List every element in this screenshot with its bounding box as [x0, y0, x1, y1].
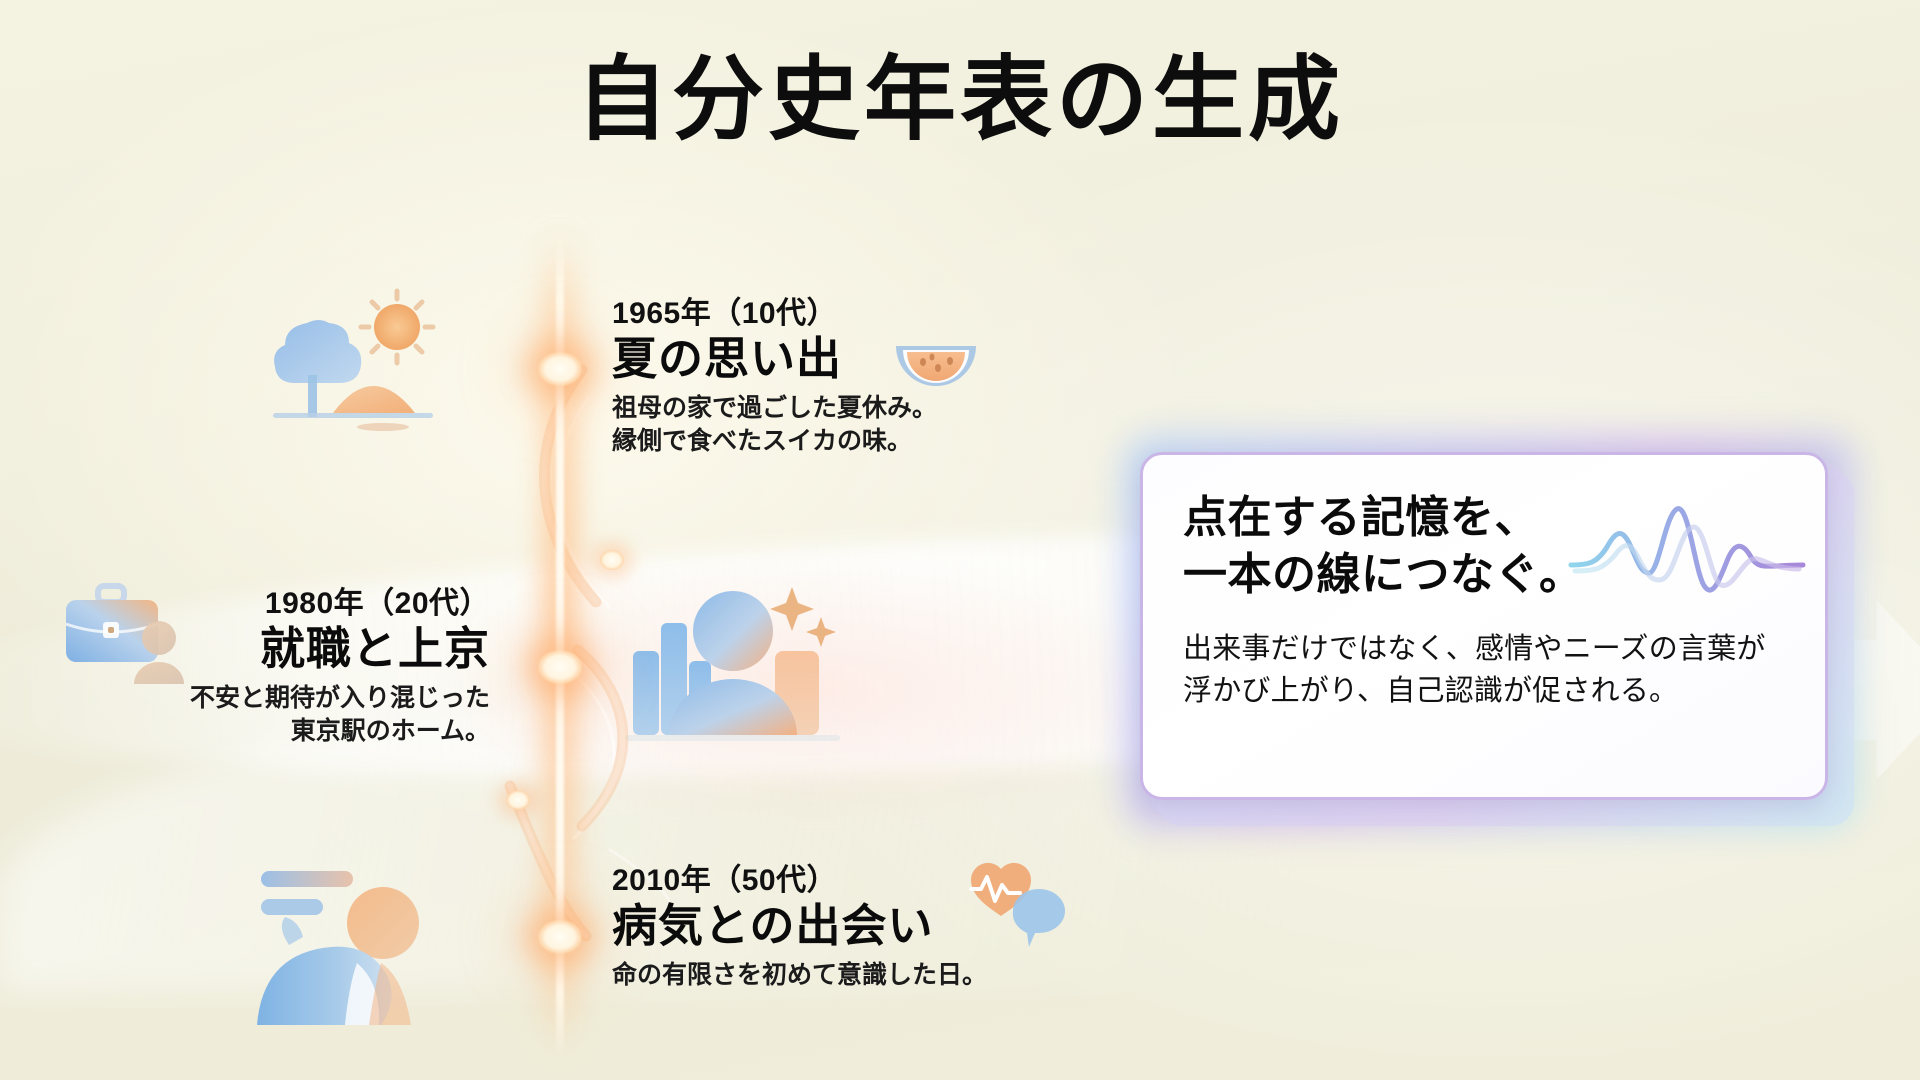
timeline-node-1980[interactable] [538, 650, 582, 684]
entry-description-2010: 命の有限さを初めて意識した日。 [612, 959, 987, 992]
summer-landscape-illustration [255, 285, 460, 445]
timeline-node-minor-right [600, 550, 624, 570]
timeline-entry-2010[interactable]: 2010年（50代） 病気との出会い 命の有限さを初めて意識した日。 [612, 855, 987, 992]
timeline-node-1965[interactable] [538, 352, 582, 386]
speech-bubble-icon [1013, 889, 1065, 947]
briefcase-person-illustration [60, 580, 195, 695]
entry-headline-1965: 夏の思い出 [612, 334, 937, 384]
patient-in-bed-illustration [205, 845, 440, 1030]
sun-icon [361, 291, 433, 363]
hill-icon [333, 386, 415, 413]
briefcase-icon [66, 586, 158, 662]
timeline-entry-1965[interactable]: 1965年（10代） 夏の思い出 祖母の家で過ごした夏休み。 縁側で食べたスイカ… [612, 288, 937, 458]
timeline-node-2010[interactable] [538, 920, 582, 954]
page-title: 自分史年表の生成 [0, 52, 1920, 149]
card-surface: 点在する記憶を、 一本の線につなぐ。 出来事だけではなく、感情やニーズの言葉が浮… [1140, 452, 1828, 800]
timeline-spine [500, 230, 620, 1060]
text-lines-icon [261, 871, 353, 915]
entry-year-1965: 1965年（10代） [612, 288, 937, 332]
entry-description-1965: 祖母の家で過ごした夏休み。 縁側で食べたスイカの味。 [612, 392, 937, 458]
card-body-text: 出来事だけではなく、感情やニーズの言葉が浮かび上がり、自己認識が促される。 [1183, 629, 1785, 711]
entry-year-1980: 1980年（20代） [190, 578, 490, 622]
entry-headline-1980: 就職と上京 [190, 624, 490, 674]
timeline-node-minor-left [506, 790, 530, 810]
card-headline: 点在する記憶を、 一本の線につなぐ。 [1183, 489, 1785, 603]
entry-year-2010: 2010年（50代） [612, 855, 987, 899]
sparkle-icon [770, 587, 836, 647]
slide-root: 自分史年表の生成 [0, 0, 1920, 1080]
entry-description-1980: 不安と期待が入り混じった 東京駅のホーム。 [190, 682, 490, 748]
entry-headline-2010: 病気との出会い [612, 901, 987, 951]
timeline-entry-1980[interactable]: 1980年（20代） 就職と上京 不安と期待が入り混じった 東京駅のホーム。 [190, 578, 490, 748]
summary-card[interactable]: 点在する記憶を、 一本の線につなぐ。 出来事だけではなく、感情やニーズの言葉が浮… [1140, 452, 1840, 812]
